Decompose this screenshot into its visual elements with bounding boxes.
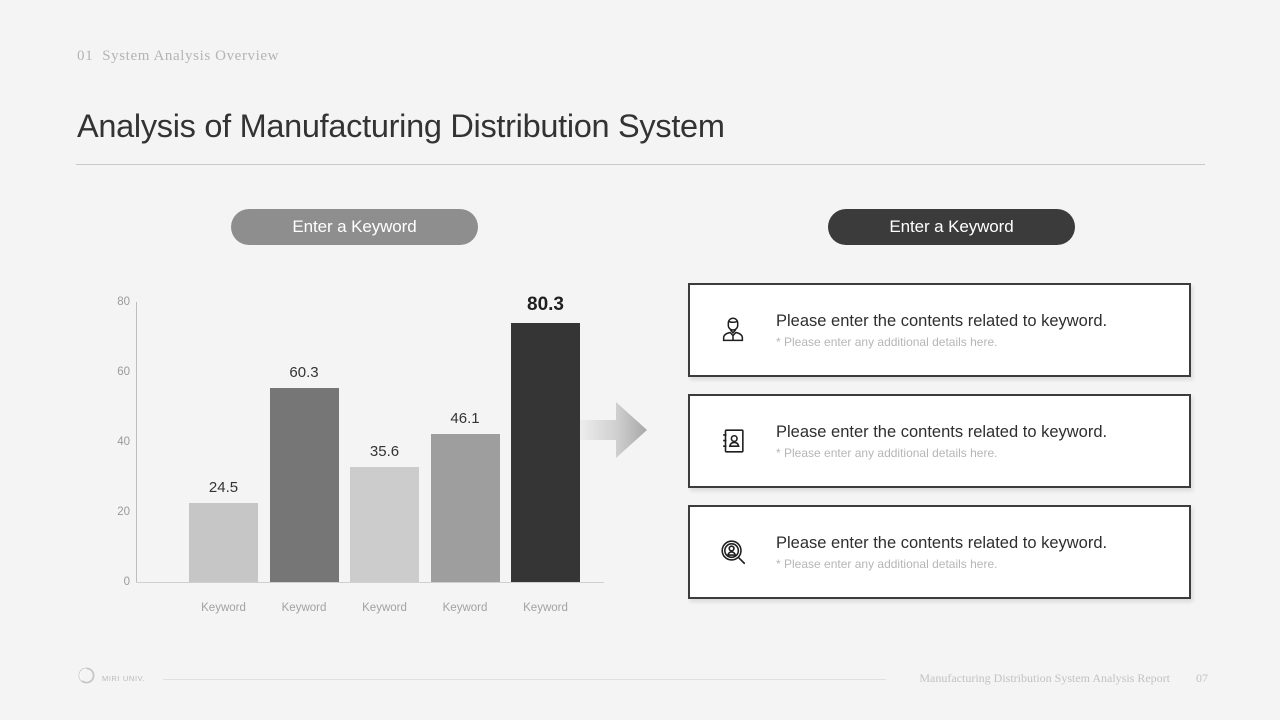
card-title: Please enter the contents related to key… <box>776 533 1107 554</box>
keyword-button-chart[interactable]: Enter a Keyword <box>231 209 478 245</box>
bar-value-label: 24.5 <box>209 479 238 496</box>
bar-value-label: 46.1 <box>450 410 479 427</box>
card-text-block: Please enter the contents related to key… <box>776 422 1123 461</box>
x-axis-category-label: Keyword <box>362 602 407 614</box>
bar[interactable] <box>350 467 419 582</box>
bar[interactable] <box>511 323 580 582</box>
x-axis-category-label: Keyword <box>523 602 568 614</box>
bar-group: 35.6Keyword <box>350 302 419 582</box>
y-axis-ticks: 806040200 <box>96 302 130 582</box>
bar-group: 46.1Keyword <box>431 302 500 582</box>
person-search-icon <box>690 537 776 567</box>
x-axis-category-label: Keyword <box>282 602 327 614</box>
slide-root: 01System Analysis Overview Analysis of M… <box>0 0 1280 720</box>
card-title: Please enter the contents related to key… <box>776 422 1107 443</box>
title-divider <box>76 164 1205 165</box>
breadcrumb: 01System Analysis Overview <box>77 48 279 65</box>
bar-group: 80.3Keyword <box>511 302 580 582</box>
card-text-block: Please enter the contents related to key… <box>776 533 1123 572</box>
footer-brand-label: MIRI UNIV. <box>102 674 145 683</box>
section-label: System Analysis Overview <box>102 48 279 64</box>
page-number: 07 <box>1196 671 1208 686</box>
card-subtitle: * Please enter any additional details he… <box>776 335 1107 349</box>
bar-value-label: 80.3 <box>527 294 564 316</box>
bar[interactable] <box>431 434 500 582</box>
page-title: Analysis of Manufacturing Distribution S… <box>77 108 725 145</box>
bar-group: 24.5Keyword <box>189 302 258 582</box>
x-axis-category-label: Keyword <box>443 602 488 614</box>
y-axis-tick-label: 40 <box>96 436 130 448</box>
card-title: Please enter the contents related to key… <box>776 311 1107 332</box>
footer-logo: MIRI UNIV. <box>78 667 145 689</box>
section-number: 01 <box>77 48 93 64</box>
bar-value-label: 35.6 <box>370 443 399 460</box>
bar[interactable] <box>270 388 339 582</box>
footer-divider <box>163 679 886 680</box>
content-card-list: Please enter the contents related to key… <box>688 283 1191 616</box>
x-axis-category-label: Keyword <box>201 602 246 614</box>
right-arrow-icon <box>580 398 648 462</box>
bar-group: 60.3Keyword <box>270 302 339 582</box>
person-icon <box>690 315 776 345</box>
y-axis-tick-label: 80 <box>96 296 130 308</box>
y-axis-tick-label: 0 <box>96 576 130 588</box>
address-book-icon <box>690 426 776 456</box>
bar-chart: 806040200 24.5Keyword60.3Keyword35.6Keyw… <box>96 292 616 617</box>
bar[interactable] <box>189 503 258 582</box>
x-axis-line <box>136 582 604 583</box>
bar-value-label: 60.3 <box>289 364 318 381</box>
y-axis-tick-label: 20 <box>96 506 130 518</box>
keyword-button-cards[interactable]: Enter a Keyword <box>828 209 1075 245</box>
card-subtitle: * Please enter any additional details he… <box>776 557 1107 571</box>
footer-note: Manufacturing Distribution System Analys… <box>919 671 1170 686</box>
content-card[interactable]: Please enter the contents related to key… <box>688 283 1191 377</box>
content-card[interactable]: Please enter the contents related to key… <box>688 505 1191 599</box>
bar-series: 24.5Keyword60.3Keyword35.6Keyword46.1Key… <box>137 302 604 582</box>
ring-logo-icon <box>78 667 95 689</box>
card-text-block: Please enter the contents related to key… <box>776 311 1123 350</box>
content-card[interactable]: Please enter the contents related to key… <box>688 394 1191 488</box>
card-subtitle: * Please enter any additional details he… <box>776 446 1107 460</box>
y-axis-tick-label: 60 <box>96 366 130 378</box>
